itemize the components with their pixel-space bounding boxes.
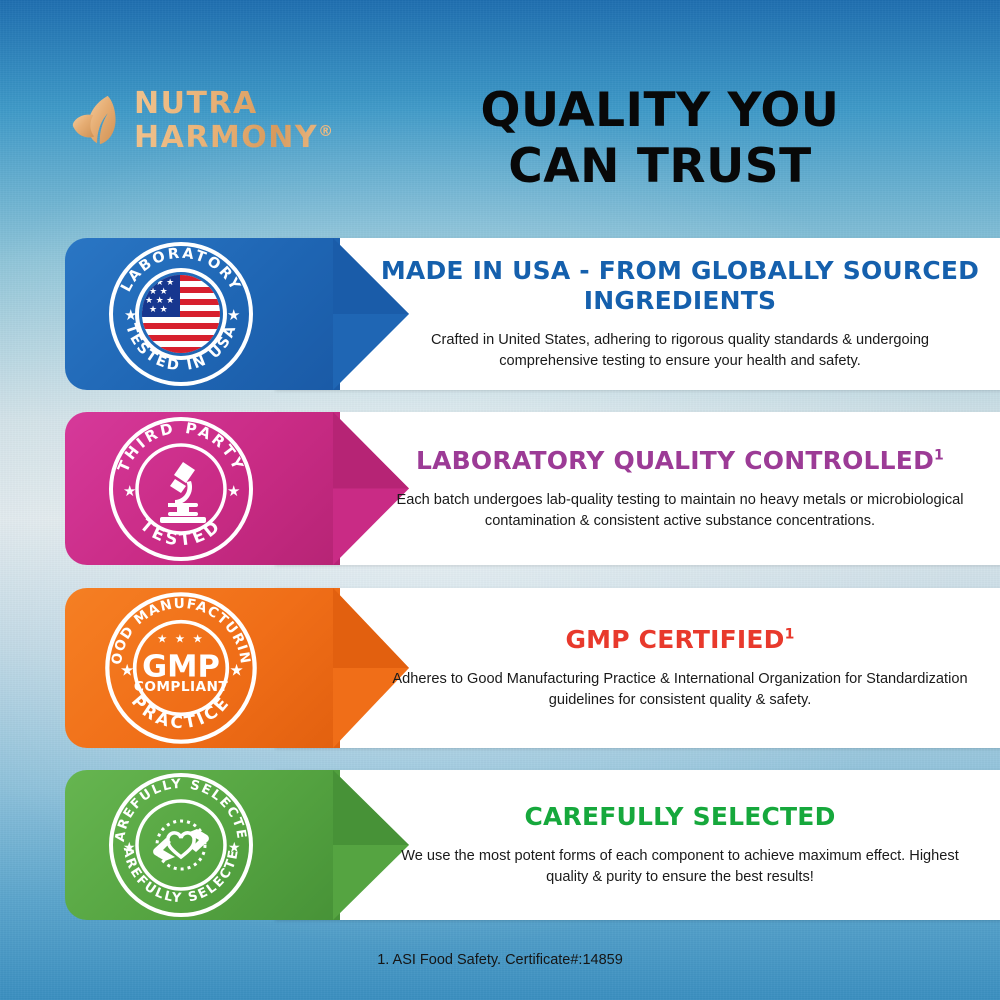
card-heading: GMP CERTIFIED1: [565, 625, 794, 655]
laboratory-tested-in-usa-badge: ★ ★ ★ ★ ★ ★ ★ ★ ★ ★ LABORATORY TESTED IN…: [105, 238, 257, 390]
poster-header: NUTRA HARMONY® QUALITY YOU CAN TRUST: [0, 0, 1000, 215]
svg-text:★ ★ ★: ★ ★ ★: [157, 634, 205, 646]
badge-center-line-2: COMPLIANT: [134, 679, 228, 695]
leaf-icon: [68, 90, 130, 152]
third-party-tested-badge: THIRD PARTY TESTED ★ ★: [105, 413, 257, 565]
svg-text:PRACTICE: PRACTICE: [128, 691, 235, 732]
card-body-text: Adheres to Good Manufacturing Practice &…: [380, 669, 980, 710]
card-text-block: MADE IN USA - FROM GLOBALLY SOURCED INGR…: [355, 238, 1000, 390]
svg-text:★: ★: [227, 307, 240, 324]
poster-canvas: NUTRA HARMONY® QUALITY YOU CAN TRUST: [0, 0, 1000, 1000]
card-body-text: We use the most potent forms of each com…: [380, 846, 980, 887]
svg-text:★: ★: [123, 483, 136, 500]
badge-bottom-text: PRACTICE: [128, 691, 235, 732]
card-heading: CAREFULLY SELECTED: [524, 802, 835, 832]
card-heading-text: MADE IN USA - FROM GLOBALLY SOURCED INGR…: [381, 256, 979, 315]
brand-line-2: HARMONY®: [134, 123, 333, 153]
card-heading-text: CAREFULLY SELECTED: [524, 802, 835, 831]
card-heading-footnote-marker: 1: [785, 627, 795, 643]
brand-line-1: NUTRA: [134, 89, 333, 119]
card-text-block: GMP CERTIFIED1 Adheres to Good Manufactu…: [355, 588, 1000, 748]
feature-card-gmp-certified[interactable]: ★ ★ ★ GMP COMPLIANT GOOD MANUFACTURING P…: [65, 588, 940, 748]
page-title-line-2: CAN TRUST: [400, 139, 920, 194]
registered-trademark-icon: ®: [318, 122, 333, 140]
card-heading-footnote-marker: 1: [934, 447, 944, 463]
feature-card-lab-quality-controlled[interactable]: THIRD PARTY TESTED ★ ★ LABORATORY QUALIT…: [65, 412, 940, 565]
svg-text:★: ★: [123, 839, 136, 855]
brand-wordmark: NUTRA HARMONY®: [134, 89, 333, 153]
card-heading: MADE IN USA - FROM GLOBALLY SOURCED INGR…: [363, 256, 997, 316]
svg-text:★: ★: [228, 839, 241, 855]
svg-text:★ ★: ★ ★: [149, 304, 168, 314]
card-body-text: Each batch undergoes lab-quality testing…: [380, 490, 980, 531]
carefully-selected-badge: CAREFULLY SELECTED CAREFULLY SELECTED ★ …: [105, 769, 257, 921]
card-heading-text: GMP CERTIFIED: [565, 625, 784, 654]
svg-text:★: ★: [227, 483, 240, 500]
svg-text:★: ★: [120, 662, 134, 679]
brand-logo: NUTRA HARMONY®: [68, 76, 368, 166]
brand-line-2-text: HARMONY: [134, 120, 318, 155]
card-heading-text: LABORATORY QUALITY CONTROLLED: [416, 446, 934, 475]
footnote: 1. ASI Food Safety. Certificate#:14859: [0, 952, 1000, 968]
gmp-compliant-badge: ★ ★ ★ GMP COMPLIANT GOOD MANUFACTURING P…: [101, 588, 261, 748]
svg-text:★: ★: [229, 662, 243, 679]
page-title: QUALITY YOU CAN TRUST: [400, 83, 920, 194]
card-text-block: CAREFULLY SELECTED We use the most poten…: [355, 770, 1000, 920]
card-body-text: Crafted in United States, adhering to ri…: [380, 330, 980, 371]
card-heading: LABORATORY QUALITY CONTROLLED1: [416, 446, 944, 476]
page-title-line-1: QUALITY YOU: [481, 83, 840, 138]
hands-heart-icon: [153, 821, 209, 869]
microscope-icon: [160, 462, 206, 523]
feature-card-carefully-selected[interactable]: CAREFULLY SELECTED CAREFULLY SELECTED ★ …: [65, 770, 940, 920]
svg-text:★: ★: [124, 307, 137, 324]
feature-card-made-in-usa[interactable]: ★ ★ ★ ★ ★ ★ ★ ★ ★ ★ LABORATORY TESTED IN…: [65, 238, 940, 390]
card-text-block: LABORATORY QUALITY CONTROLLED1 Each batc…: [355, 412, 1000, 565]
